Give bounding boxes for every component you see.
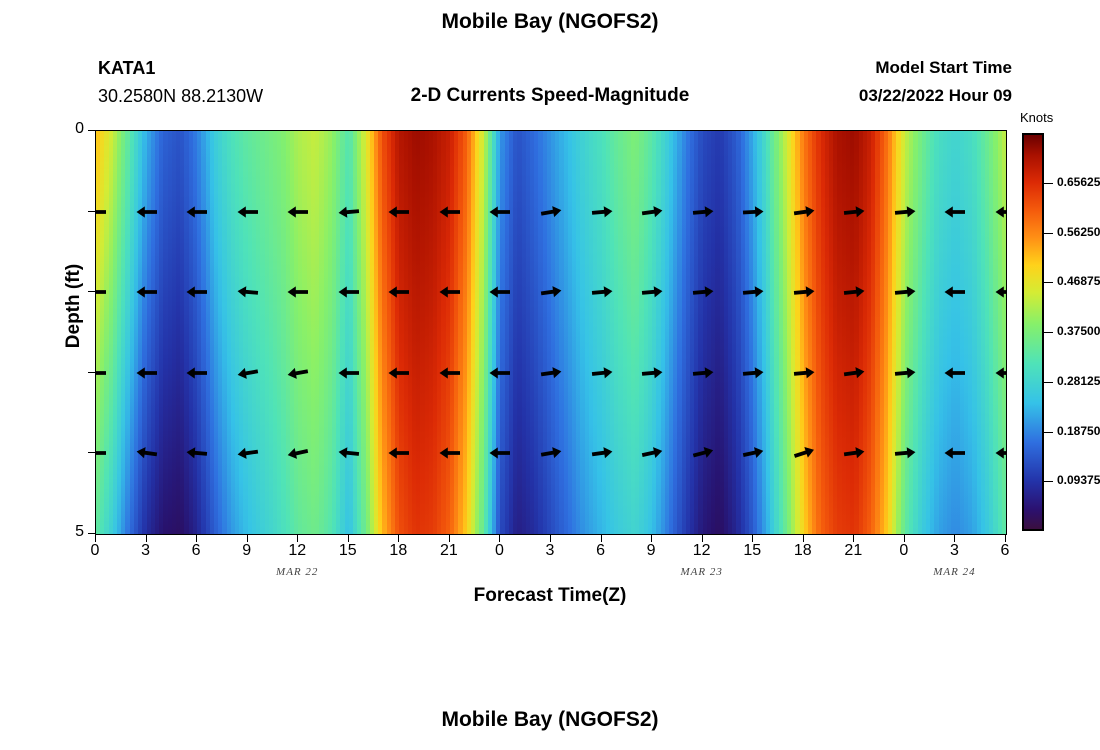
x-axis-tick-label: 12 [277, 542, 317, 560]
x-axis-tick-label: 9 [227, 542, 267, 560]
x-axis-tick-label: 6 [176, 542, 216, 560]
x-axis-tick-label: 21 [833, 542, 873, 560]
x-axis-tick [95, 535, 96, 542]
y-axis-tick [88, 533, 96, 534]
colorbar-tick [1044, 432, 1053, 433]
x-axis-tick-label: 9 [631, 542, 671, 560]
model-start-time-value: 03/22/2022 Hour 09 [859, 86, 1012, 106]
x-axis-tick [752, 535, 753, 542]
colorbar-tick [1044, 183, 1053, 184]
x-axis-tick [904, 535, 905, 542]
x-axis-tick-label: 21 [429, 542, 469, 560]
x-axis-tick-label: 3 [530, 542, 570, 560]
x-axis-tick-label: 6 [985, 542, 1025, 560]
colorbar-tick-label: 0.28125 [1057, 374, 1100, 388]
x-axis-tick [499, 535, 500, 542]
x-axis-tick [954, 535, 955, 542]
y-axis-tick [88, 130, 96, 131]
x-axis-tick-label: 18 [783, 542, 823, 560]
x-axis-tick [297, 535, 298, 542]
x-axis-tick [1005, 535, 1006, 542]
x-axis-tick [398, 535, 399, 542]
x-axis-tick-label: 6 [581, 542, 621, 560]
colorbar-gradient [1022, 133, 1044, 531]
colorbar-tick-label: 0.46875 [1057, 274, 1100, 288]
colorbar-tick-label: 0.09375 [1057, 473, 1100, 487]
colorbar-tick-label: 0.56250 [1057, 225, 1100, 239]
x-axis-tick-label: 0 [75, 542, 115, 560]
y-axis-title: Depth (ft) [63, 216, 85, 396]
x-axis-tick-label: 15 [328, 542, 368, 560]
x-axis-tick-label: 3 [126, 542, 166, 560]
x-axis-title: Forecast Time(Z) [0, 585, 1100, 607]
colorbar-title: Knots [1020, 110, 1053, 125]
x-axis-tick [601, 535, 602, 542]
x-axis-tick-label: 3 [934, 542, 974, 560]
colorbar-tick-label: 0.18750 [1057, 424, 1100, 438]
y-axis-tick [88, 211, 96, 212]
x-axis-tick [853, 535, 854, 542]
x-axis-date-label: MAR 23 [657, 566, 747, 578]
x-axis-tick [550, 535, 551, 542]
x-axis-tick-label: 0 [479, 542, 519, 560]
y-axis-tick-label: 0 [44, 120, 84, 138]
x-axis-tick [146, 535, 147, 542]
colorbar-tick [1044, 481, 1053, 482]
colorbar-tick [1044, 332, 1053, 333]
x-axis-tick [196, 535, 197, 542]
x-axis-tick [348, 535, 349, 542]
y-axis-tick [88, 372, 96, 373]
station-id-label: KATA1 [98, 58, 155, 79]
currents-heatmap-plot [95, 130, 1007, 535]
main-title: Mobile Bay (NGOFS2) [0, 10, 1100, 34]
y-axis-tick-label: 5 [44, 523, 84, 541]
x-axis-tick-label: 18 [378, 542, 418, 560]
x-axis-tick-label: 0 [884, 542, 924, 560]
x-axis-date-label: MAR 22 [252, 566, 342, 578]
model-start-time-label: Model Start Time [875, 58, 1012, 78]
x-axis-tick-label: 12 [682, 542, 722, 560]
colorbar-tick [1044, 233, 1053, 234]
x-axis-tick-label: 15 [732, 542, 772, 560]
x-axis-tick [702, 535, 703, 542]
heatmap-column [1002, 131, 1007, 534]
bottom-panel-title: Mobile Bay (NGOFS2) [0, 708, 1100, 732]
x-axis-date-label: MAR 24 [909, 566, 999, 578]
colorbar-tick-label: 0.65625 [1057, 175, 1100, 189]
colorbar-tick [1044, 282, 1053, 283]
x-axis-tick [449, 535, 450, 542]
colorbar-tick [1044, 382, 1053, 383]
x-axis-tick [803, 535, 804, 542]
x-axis-tick [247, 535, 248, 542]
x-axis-tick [651, 535, 652, 542]
y-axis-tick [88, 291, 96, 292]
y-axis-tick [88, 452, 96, 453]
colorbar-tick-label: 0.37500 [1057, 324, 1100, 338]
